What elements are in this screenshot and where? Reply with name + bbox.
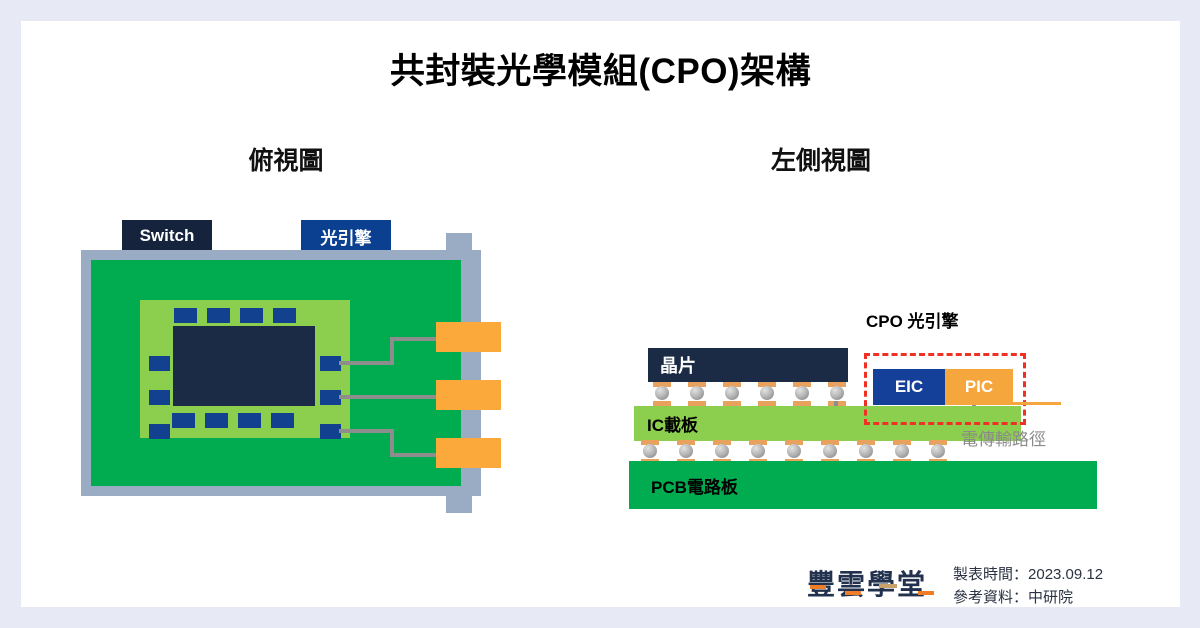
trace-1-v (390, 337, 394, 365)
solder-ball (679, 444, 693, 458)
solder-ball (787, 444, 801, 458)
pad-bottom-1 (172, 413, 195, 428)
section-title-top-view: 俯視圖 (216, 141, 356, 177)
eic-block: EIC (873, 369, 945, 405)
optical-connector-2 (436, 380, 501, 410)
footer-created-label: 製表時間： (953, 566, 1028, 583)
pad-bottom-4 (271, 413, 294, 428)
accent-3 (879, 584, 897, 588)
solder-ball (690, 386, 704, 400)
electrical-path-label: 電傳輸路徑 (961, 425, 1046, 450)
switch-die (173, 326, 315, 406)
chip-block: 晶片 (648, 348, 848, 382)
pad-left-3 (149, 424, 170, 439)
solder-ball (725, 386, 739, 400)
footer-source-label: 參考資料： (953, 589, 1028, 606)
pcb-label: PCB電路板 (651, 473, 738, 498)
trace-1-h1 (339, 361, 394, 365)
solder-ball (751, 444, 765, 458)
optical-fiber-line (1009, 402, 1061, 405)
cpo-engine-label: CPO 光引擎 (866, 307, 959, 332)
solder-ball (795, 386, 809, 400)
solder-ball (859, 444, 873, 458)
pad-top-3 (240, 308, 263, 323)
logo-accent-marks (807, 563, 947, 599)
footer-source-row: 參考資料：中研院 (953, 586, 1103, 609)
pad-right-3 (320, 424, 341, 439)
chip-label: 晶片 (660, 352, 696, 378)
footer-created-row: 製表時間：2023.09.12 (953, 563, 1103, 586)
pad-bottom-2 (205, 413, 228, 428)
solder-ball (715, 444, 729, 458)
footer-meta: 製表時間：2023.09.12 參考資料：中研院 (953, 563, 1103, 609)
optical-connector-1 (436, 322, 501, 352)
solder-ball (643, 444, 657, 458)
badge-optical-engine: 光引擎 (301, 220, 391, 252)
solder-ball (655, 386, 669, 400)
optical-connector-3 (436, 438, 501, 468)
footer-source-value: 中研院 (1028, 589, 1073, 606)
pad-left-2 (149, 390, 170, 405)
solder-ball-upper-3 (723, 382, 741, 406)
pad-top-2 (207, 308, 230, 323)
pad-top-1 (174, 308, 197, 323)
trace-2-h (339, 395, 450, 399)
solder-ball-upper-5 (793, 382, 811, 406)
solder-ball (823, 444, 837, 458)
solder-ball (830, 386, 844, 400)
footer-created-value: 2023.09.12 (1028, 566, 1103, 583)
solder-ball (760, 386, 774, 400)
accent-4 (918, 591, 934, 595)
solder-ball-upper-2 (688, 382, 706, 406)
solder-ball-upper-1 (653, 382, 671, 406)
pcb-board-block: PCB電路板 (629, 461, 1097, 509)
section-title-side-view: 左側視圖 (751, 141, 891, 177)
trace-3-h1 (339, 429, 394, 433)
badge-switch: Switch (122, 220, 212, 252)
accent-2 (845, 591, 861, 595)
solder-ball-upper-4 (758, 382, 776, 406)
ic-substrate-label: IC載板 (647, 411, 698, 436)
solder-ball (931, 444, 945, 458)
pad-bottom-3 (238, 413, 261, 428)
pic-block: PIC (945, 369, 1013, 405)
solder-ball (895, 444, 909, 458)
slide-panel: 共封裝光學模組(CPO)架構 俯視圖 左側視圖 Switch 光引擎 (21, 21, 1180, 607)
pad-top-4 (273, 308, 296, 323)
pad-right-1 (320, 356, 341, 371)
page-title: 共封裝光學模組(CPO)架構 (21, 43, 1180, 94)
pad-left-1 (149, 356, 170, 371)
pad-right-2 (320, 390, 341, 405)
accent-1 (810, 585, 826, 589)
